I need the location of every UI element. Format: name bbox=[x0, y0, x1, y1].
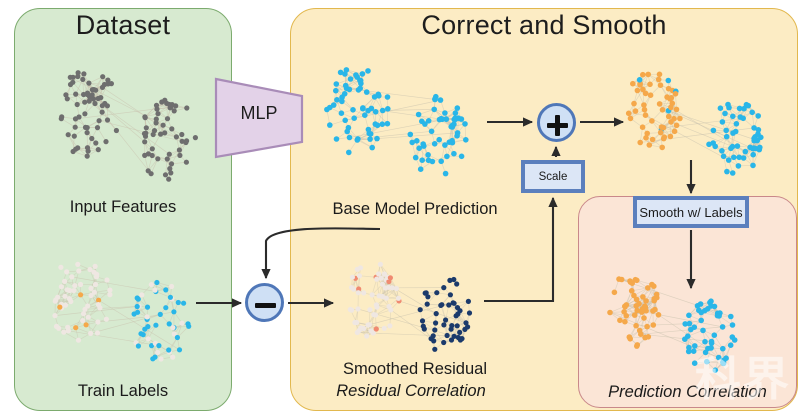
scale-box-label: Scale bbox=[539, 171, 568, 183]
scale-box[interactable]: Scale bbox=[521, 160, 585, 193]
caption-residual-correlation: Residual Correlation bbox=[296, 382, 526, 401]
mlp-label: MLP bbox=[213, 103, 305, 124]
caption-prediction-correlation: Prediction Correlation bbox=[578, 383, 797, 402]
figure-canvas: Dataset Correct and Smooth bbox=[0, 0, 808, 419]
subtract-operator[interactable] bbox=[245, 283, 284, 322]
plus-icon-vertical bbox=[555, 115, 560, 136]
smooth-with-labels-label: Smooth w/ Labels bbox=[639, 205, 742, 220]
minus-icon bbox=[255, 303, 276, 308]
caption-smoothed-residual: Smoothed Residual bbox=[300, 360, 530, 379]
caption-input-features: Input Features bbox=[14, 198, 232, 217]
arrow-base-prediction-to-subtract bbox=[266, 228, 380, 278]
caption-base-model-prediction: Base Model Prediction bbox=[300, 200, 530, 219]
smooth-with-labels-box[interactable]: Smooth w/ Labels bbox=[633, 196, 749, 228]
caption-train-labels: Train Labels bbox=[14, 382, 232, 401]
add-operator[interactable] bbox=[537, 103, 576, 142]
